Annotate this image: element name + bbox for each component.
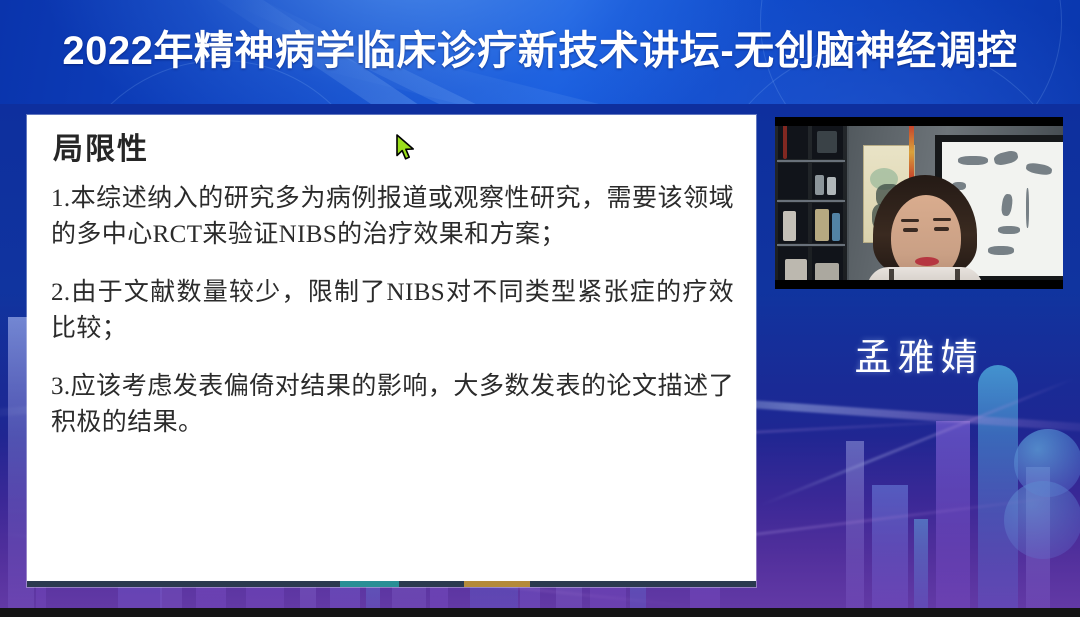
video-letterbox-top <box>775 117 1063 126</box>
conference-title: 2022年精神病学临床诊疗新技术讲坛-无创脑神经调控 <box>0 22 1080 80</box>
header-banner: 2022年精神病学临床诊疗新技术讲坛-无创脑神经调控 <box>0 0 1080 104</box>
slide-title: 局限性 <box>53 129 149 171</box>
video-scene <box>775 117 1063 289</box>
bookshelf <box>775 117 849 289</box>
footer-segment <box>464 581 530 587</box>
slide-content-panel[interactable]: 局限性 1.本综述纳入的研究多为病例报道或观察性研究，需要该领域的多中心RCT来… <box>27 115 756 587</box>
footer-segment <box>340 581 398 587</box>
video-letterbox-bottom <box>775 280 1063 289</box>
slide-body: 1.本综述纳入的研究多为病例报道或观察性研究，需要该领域的多中心RCT来验证NI… <box>51 181 734 463</box>
presenter-figure <box>867 175 983 289</box>
slide-footer-bar <box>27 581 756 587</box>
slide-paragraph-3: 3.应该考虑发表偏倚对结果的影响，大多数发表的论文描述了积极的结果。 <box>51 369 734 441</box>
tassel-decoration <box>909 123 914 181</box>
presenter-video-tile[interactable] <box>775 117 1063 289</box>
footer-segment <box>530 581 756 587</box>
footer-segment <box>27 581 340 587</box>
footer-segment <box>399 581 465 587</box>
speaker-name: 孟雅婧 <box>775 334 1063 384</box>
slide-paragraph-1: 1.本综述纳入的研究多为病例报道或观察性研究，需要该领域的多中心RCT来验证NI… <box>51 181 734 253</box>
slide-paragraph-2: 2.由于文献数量较少，限制了NIBS对不同类型紧张症的疗效比较； <box>51 275 734 347</box>
bottom-letterbox <box>0 608 1080 617</box>
presentation-stream-window: 2022年精神病学临床诊疗新技术讲坛-无创脑神经调控 <box>0 0 1080 617</box>
